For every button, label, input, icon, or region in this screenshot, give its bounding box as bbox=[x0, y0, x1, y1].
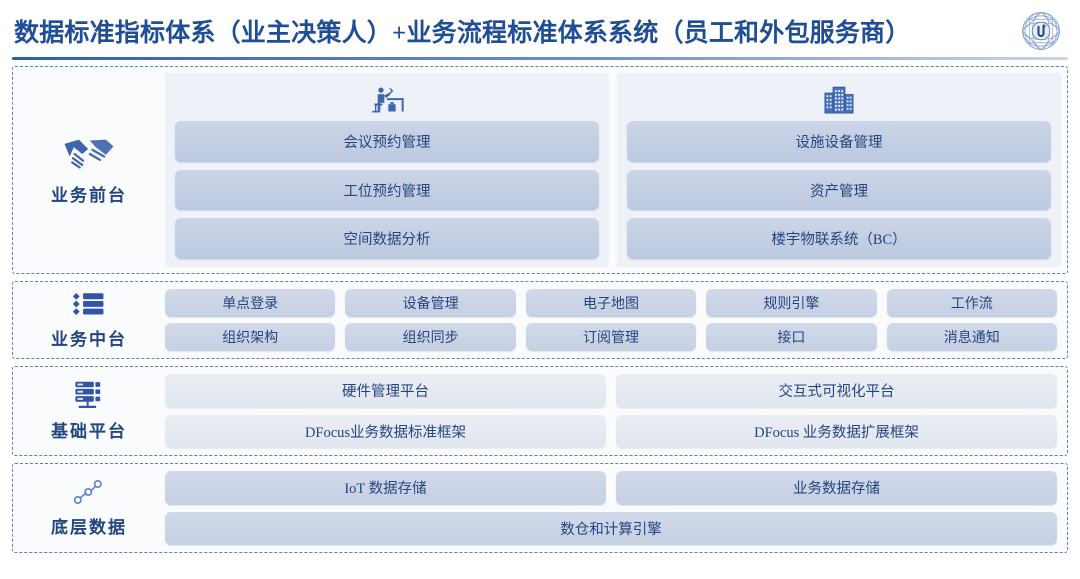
module-pill[interactable]: 设备管理 bbox=[345, 289, 515, 317]
header-divider bbox=[12, 57, 1068, 60]
layer-body-bottom-data: IoT 数据存储 业务数据存储 数仓和计算引擎 bbox=[165, 464, 1067, 552]
node-graph-icon bbox=[73, 479, 105, 505]
layer-body-base-platform: 硬件管理平台 交互式可视化平台 DFocus业务数据标准框架 DFocus 业务… bbox=[165, 367, 1067, 455]
layer-business-front: 业务前台 bbox=[12, 66, 1068, 274]
module-pill[interactable]: DFocus 业务数据扩展框架 bbox=[616, 415, 1057, 449]
group-workspace: 会议预约管理 工位预约管理 空间数据分析 bbox=[165, 73, 609, 267]
module-pill[interactable]: 设施设备管理 bbox=[627, 121, 1051, 162]
module-pill[interactable]: 单点登录 bbox=[165, 289, 335, 317]
layer-label-business-middle: 业务中台 bbox=[13, 282, 165, 358]
handshake-icon bbox=[62, 135, 116, 173]
layer-title: 底层数据 bbox=[51, 513, 127, 538]
layer-label-bottom-data: 底层数据 bbox=[13, 464, 165, 552]
module-pill[interactable]: 硬件管理平台 bbox=[165, 374, 606, 408]
module-pill[interactable]: 订阅管理 bbox=[526, 323, 696, 351]
layer-label-business-front: 业务前台 bbox=[13, 67, 165, 273]
module-pill[interactable]: DFocus业务数据标准框架 bbox=[165, 415, 606, 449]
module-pill[interactable]: 业务数据存储 bbox=[616, 471, 1057, 505]
server-stack-icon bbox=[73, 380, 105, 409]
module-pill[interactable]: 组织同步 bbox=[345, 323, 515, 351]
group-facility: 设施设备管理 资产管理 楼宇物联系统（BC） bbox=[617, 73, 1061, 267]
layer-title: 基础平台 bbox=[51, 417, 127, 442]
module-pill-full-width[interactable]: 数仓和计算引擎 bbox=[165, 512, 1057, 546]
module-pill[interactable]: 接口 bbox=[706, 323, 876, 351]
page-title: 数据标准指标体系（业主决策人）+业务流程标准体系系统（员工和外包服务商） bbox=[14, 21, 1014, 46]
module-pill[interactable]: 空间数据分析 bbox=[175, 218, 599, 259]
module-pill[interactable]: 组织架构 bbox=[165, 323, 335, 351]
module-pill[interactable]: 工位预约管理 bbox=[175, 170, 599, 211]
office-buildings-icon bbox=[822, 79, 856, 119]
module-pill[interactable]: 会议预约管理 bbox=[175, 121, 599, 162]
module-pill[interactable]: 资产管理 bbox=[627, 170, 1051, 211]
layer-bottom-data: 底层数据 IoT 数据存储 业务数据存储 数仓和计算引擎 bbox=[12, 463, 1068, 553]
layer-label-base-platform: 基础平台 bbox=[13, 367, 165, 455]
module-pill[interactable]: 消息通知 bbox=[887, 323, 1057, 351]
bulleted-list-icon bbox=[72, 291, 106, 317]
layer-body-business-front: 会议预约管理 工位预约管理 空间数据分析 bbox=[165, 67, 1067, 273]
module-pill[interactable]: 楼宇物联系统（BC） bbox=[627, 218, 1051, 259]
layer-body-business-middle: 单点登录 设备管理 电子地图 规则引擎 工作流 组织架构 组织同步 订阅管理 接… bbox=[165, 282, 1067, 358]
module-pill[interactable]: 交互式可视化平台 bbox=[616, 374, 1057, 408]
layer-business-middle: 业务中台 单点登录 设备管理 电子地图 规则引擎 工作流 组织架构 组织同步 订… bbox=[12, 281, 1068, 359]
layer-title: 业务前台 bbox=[51, 181, 127, 206]
layer-base-platform: 基础平台 硬件管理平台 交互式可视化平台 DFocus业务数据标准框架 DFoc… bbox=[12, 366, 1068, 456]
module-pill[interactable]: 电子地图 bbox=[526, 289, 696, 317]
architecture-diagram: 业务前台 bbox=[0, 66, 1080, 563]
module-pill[interactable]: IoT 数据存储 bbox=[165, 471, 606, 505]
company-globe-logo bbox=[1020, 10, 1062, 52]
page-header: 数据标准指标体系（业主决策人）+业务流程标准体系系统（员工和外包服务商） bbox=[0, 0, 1080, 66]
module-pill[interactable]: 工作流 bbox=[887, 289, 1057, 317]
person-at-desk-icon bbox=[369, 79, 405, 119]
layer-title: 业务中台 bbox=[51, 325, 127, 350]
module-pill[interactable]: 规则引擎 bbox=[706, 289, 876, 317]
